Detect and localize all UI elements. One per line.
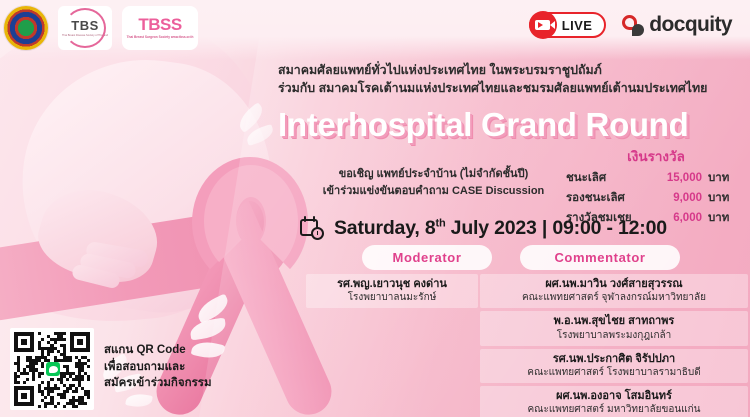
partner-logo-row: TBS Thai Breast Disease Society of Thail… — [4, 6, 198, 50]
event-datetime-text: Saturday, 8th July 2023 | 09:00 - 12:00 — [334, 217, 667, 240]
qr-line-3: สมัครเข้าร่วมกิจกรรม — [104, 375, 254, 392]
moderator-list: รศ.พญ.เยาวนุช คงด่าน โรงพยาบาลนมะรักษ์ — [306, 274, 478, 311]
prize-label: รองชนะเลิศ — [566, 189, 654, 207]
list-item: ผศ.นพ.องอาจ โสมอินทร์ คณะแพทยศาสตร์ มหาว… — [480, 386, 748, 417]
qr-code-image[interactable] — [14, 332, 90, 406]
prize-row: ชนะเลิศ 15,000 บาท — [566, 169, 746, 187]
person-affiliation: คณะแพทยศาสตร์ มหาวิทยาลัยขอนแก่น — [484, 403, 744, 416]
organiser-line-2: ร่วมกับ สมาคมโรคเต้านมแห่งประเทศไทยและชม… — [278, 80, 743, 98]
qr-line-1: สแกน QR Code — [104, 342, 254, 359]
invitation-line-1: ขอเชิญ แพทย์ประจำบ้าน (ไม่จำกัดชั้นปี) — [316, 166, 551, 183]
tbss-logo-mark: TBSS — [138, 16, 181, 33]
tbss-logo-subtitle: Thai Breast Surgeon Society www.tbss.or.… — [127, 35, 194, 39]
person-affiliation: คณะแพทยศาสตร์ โรงพยาบาลรามาธิบดี — [484, 366, 744, 379]
invitation-line-2: เข้าร่วมแข่งขันตอบคำถาม CASE Discussion — [316, 183, 551, 200]
live-badge: LIVE — [529, 12, 607, 38]
tbs-logo: TBS Thai Breast Disease Society of Thail… — [58, 6, 112, 50]
commentator-heading: Commentator — [520, 245, 680, 270]
docquity-logo: docquity — [622, 13, 732, 37]
prize-amount: 15,000 — [654, 172, 702, 184]
event-poster: TBS Thai Breast Disease Society of Thail… — [0, 0, 750, 417]
docquity-mark-icon — [622, 14, 644, 36]
event-date-suffix: July 2023 | 09:00 - 12:00 — [445, 217, 666, 239]
event-date-ordinal: th — [435, 217, 445, 229]
list-item: รศ.นพ.ประกาศิต จิรัปปภา คณะแพทยศาสตร์ โร… — [480, 349, 748, 383]
list-item: รศ.พญ.เยาวนุช คงด่าน โรงพยาบาลนมะรักษ์ — [306, 274, 478, 308]
list-item: ผศ.นพ.มาวิน วงศ์สายสุวรรณ คณะแพทยศาสตร์ … — [480, 274, 748, 308]
tbss-logo: TBSS Thai Breast Surgeon Society www.tbs… — [122, 6, 198, 50]
royal-seal-icon — [4, 6, 48, 50]
video-camera-icon — [529, 11, 557, 39]
person-name: ผศ.นพ.องอาจ โสมอินทร์ — [484, 389, 744, 403]
person-affiliation: คณะแพทยศาสตร์ จุฬาลงกรณ์มหาวิทยาลัย — [484, 291, 744, 304]
person-name: รศ.พญ.เยาวนุช คงด่าน — [310, 277, 474, 291]
tbs-ring-icon — [64, 8, 106, 48]
qr-instruction-text: สแกน QR Code เพื่อสอบถามและ สมัครเข้าร่ว… — [104, 342, 254, 392]
prize-unit: บาท — [708, 189, 729, 207]
invitation-text: ขอเชิญ แพทย์ประจำบ้าน (ไม่จำกัดชั้นปี) เ… — [316, 166, 551, 200]
live-label: LIVE — [562, 18, 593, 33]
event-datetime-bar: Saturday, 8th July 2023 | 09:00 - 12:00 — [300, 212, 750, 244]
qr-code-card[interactable] — [10, 328, 94, 410]
list-item: พ.อ.นพ.สุขไชย สาทถาพร โรงพยาบาลพระมงกุฎเ… — [480, 311, 748, 345]
page-title: Interhospital Grand Round — [278, 106, 748, 144]
organiser-text: สมาคมศัลยแพทย์ทั่วไปแห่งประเทศไทย ในพระบ… — [278, 62, 743, 98]
qr-line-2: เพื่อสอบถามและ — [104, 359, 254, 376]
moderator-heading: Moderator — [362, 245, 492, 270]
prize-label: ชนะเลิศ — [566, 169, 654, 187]
broadcast-brand-row: LIVE docquity — [529, 12, 732, 38]
person-name: รศ.นพ.ประกาศิต จิรัปปภา — [484, 352, 744, 366]
organiser-line-1: สมาคมศัลยแพทย์ทั่วไปแห่งประเทศไทย ในพระบ… — [278, 62, 743, 80]
commentator-list: ผศ.นพ.มาวิน วงศ์สายสุวรรณ คณะแพทยศาสตร์ … — [480, 274, 748, 417]
docquity-wordmark: docquity — [649, 13, 732, 37]
person-name: พ.อ.นพ.สุขไชย สาทถาพร — [484, 314, 744, 328]
calendar-clock-icon — [300, 216, 324, 240]
person-name: ผศ.นพ.มาวิน วงศ์สายสุวรรณ — [484, 277, 744, 291]
person-affiliation: โรงพยาบาลนมะรักษ์ — [310, 291, 474, 304]
prize-row: รองชนะเลิศ 9,000 บาท — [566, 189, 746, 207]
event-date-prefix: Saturday, 8 — [334, 217, 435, 239]
person-affiliation: โรงพยาบาลพระมงกุฎเกล้า — [484, 329, 744, 342]
prize-unit: บาท — [708, 169, 729, 187]
prize-amount: 9,000 — [654, 192, 702, 204]
prize-heading: เงินรางวัล — [566, 145, 746, 167]
